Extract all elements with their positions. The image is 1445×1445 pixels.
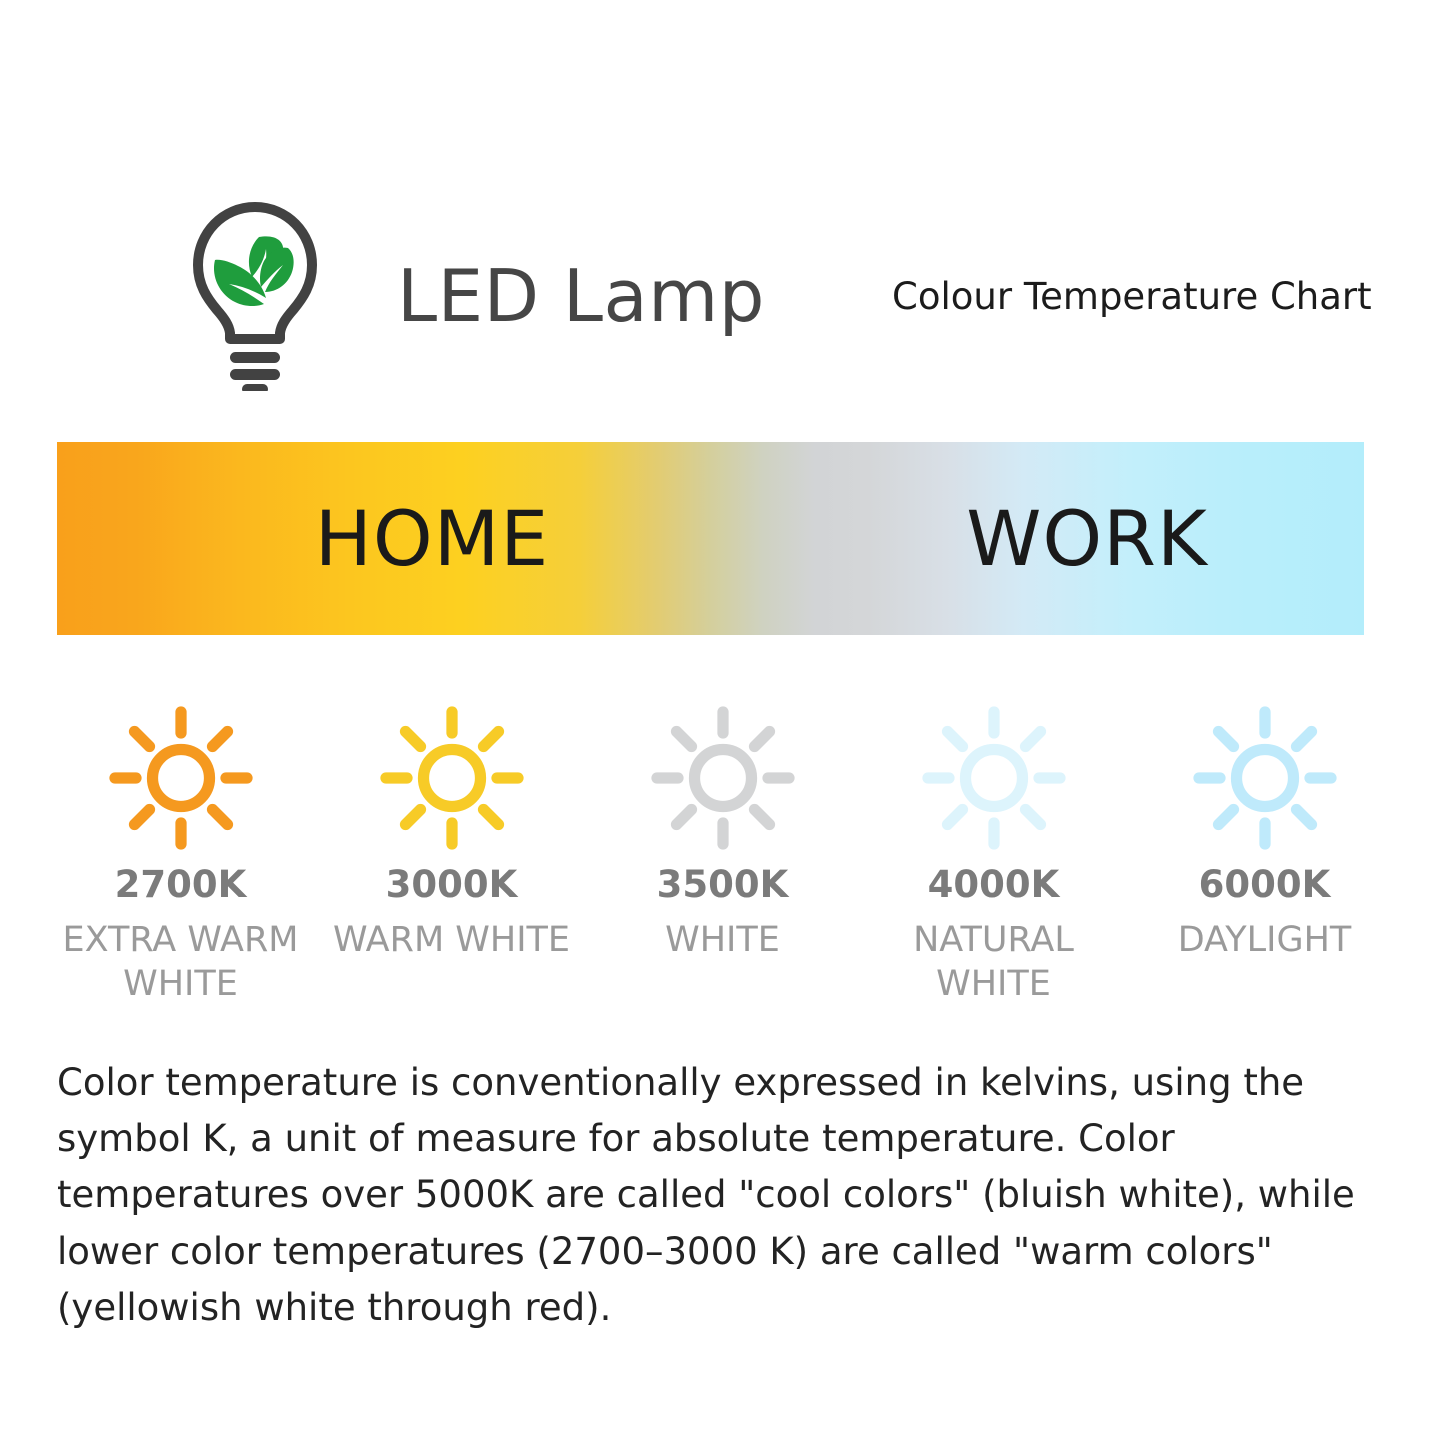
temperature-item-2700k[interactable]: 2700K EXTRA WARM WHITE [45,703,316,1007]
temperature-kelvin: 3000K [386,866,518,903]
temperature-kelvin: 4000K [928,866,1060,903]
temperature-name: NATURAL WHITE [864,919,1124,1007]
temperature-scale-row: 2700K EXTRA WARM WHITE 3000K WARM WHITE [45,703,1400,1007]
colour-temperature-gradient-bar: HOME WORK [57,442,1364,635]
temperature-item-4000k[interactable]: 4000K NATURAL WHITE [858,703,1129,1007]
temperature-item-6000k[interactable]: 6000K DAYLIGHT [1129,703,1400,963]
colour-temperature-chart-page: LED Lamp Colour Temperature Chart HOME W… [0,0,1445,1445]
temperature-name: DAYLIGHT [1178,919,1352,963]
sun-icon [106,703,256,853]
sun-icon [377,703,527,853]
temperature-kelvin: 3500K [657,866,789,903]
temperature-kelvin: 6000K [1199,866,1331,903]
header: LED Lamp Colour Temperature Chart [57,196,1388,396]
temperature-name: WARM WHITE [333,919,570,963]
sun-icon [919,703,1069,853]
sun-icon [1190,703,1340,853]
description-paragraph: Color temperature is conventionally expr… [57,1055,1397,1336]
gradient-label-home: HOME [252,442,612,635]
lightbulb-leaf-icon [167,196,342,396]
sun-icon [648,703,798,853]
temperature-name: EXTRA WARM WHITE [51,919,311,1007]
gradient-label-work: WORK [907,442,1267,635]
temperature-item-3500k[interactable]: 3500K WHITE [587,703,858,963]
brand-title: LED Lamp [397,260,765,332]
temperature-item-3000k[interactable]: 3000K WARM WHITE [316,703,587,963]
page-subtitle: Colour Temperature Chart [892,278,1372,315]
temperature-kelvin: 2700K [115,866,247,903]
temperature-name: WHITE [665,919,780,963]
